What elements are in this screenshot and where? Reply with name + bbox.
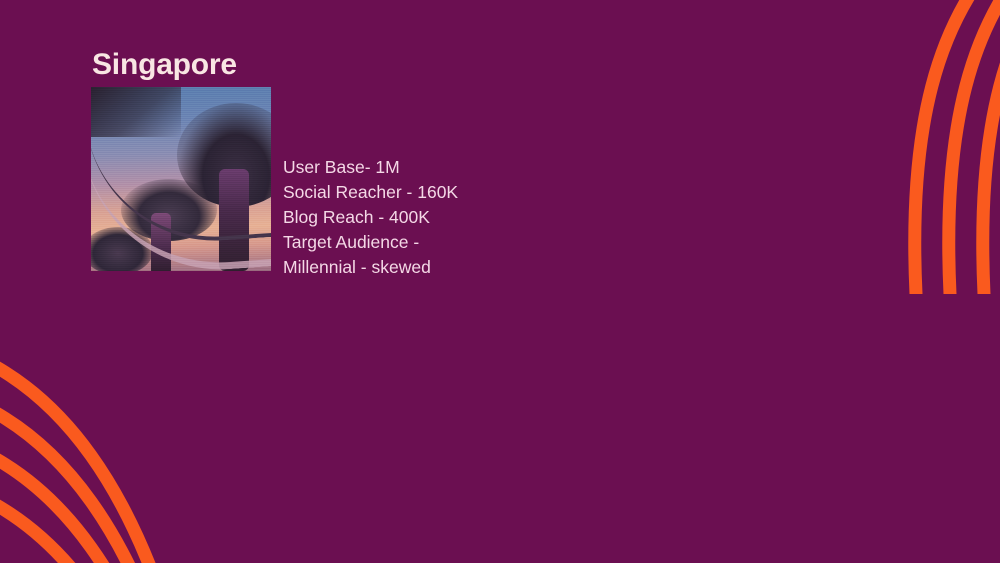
country-stats-singapore: User Base- 1M Social Reacher - 160K Blog…	[283, 155, 458, 280]
country-card-philippines: Philippines U	[500, 282, 1000, 563]
country-card-malaysia: Malaysia	[500, 0, 1000, 282]
country-title-singapore: Singapore	[92, 48, 237, 82]
stat-line: Blog Reach - 400K	[283, 205, 458, 230]
country-card-singapore: Singapore User Base- 1M Social Re	[0, 0, 500, 282]
stat-line: User Base- 1M	[283, 155, 458, 180]
stat-line: Social Reacher - 160K	[283, 180, 458, 205]
country-card-indonesia: Indonesia	[0, 282, 500, 563]
country-photo-singapore	[91, 87, 271, 271]
slide-canvas: Singapore User Base- 1M Social Re	[0, 0, 1000, 563]
stat-line: Millennial - skewed	[283, 255, 458, 280]
country-grid: Singapore User Base- 1M Social Re	[0, 0, 1000, 563]
stat-line: Target Audience -	[283, 230, 458, 255]
